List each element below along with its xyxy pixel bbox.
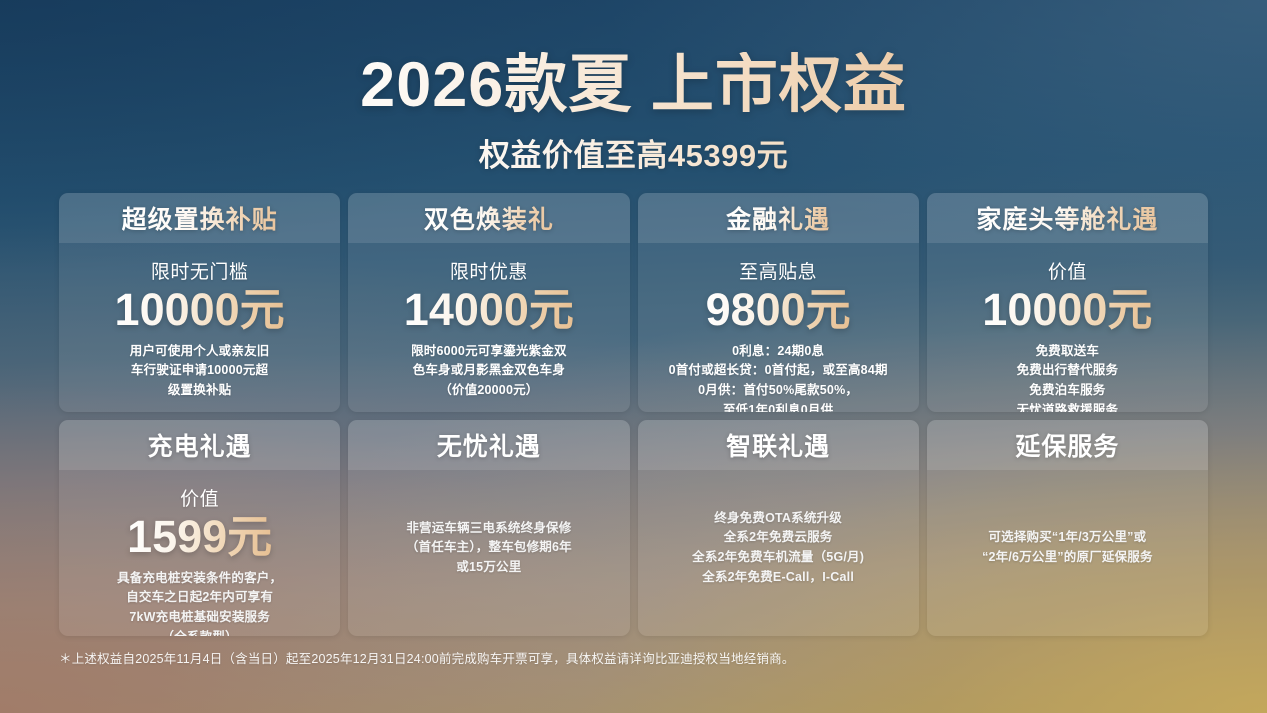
card-header: 双色焕装礼 bbox=[348, 193, 629, 243]
card-label: 价值 bbox=[1048, 257, 1087, 284]
benefit-card-grid-row1: 超级置换补贴 限时无门槛 10000元 用户可使用个人或亲友旧 车行驶证申请10… bbox=[59, 193, 1208, 412]
card-description: 用户可使用个人或亲友旧 车行驶证申请10000元超 级置换补贴 bbox=[130, 342, 270, 401]
benefit-card-grid-row2: 充电礼遇 价值 1599元 具备充电桩安装条件的客户， 自交车之日起2年内可享有… bbox=[59, 420, 1208, 636]
card-body: 终身免费OTA系统升级 全系2年免费云服务 全系2年免费车机流量（5G/月) 全… bbox=[638, 470, 919, 636]
card-amount: 1599元 bbox=[127, 512, 272, 562]
benefit-card[interactable]: 延保服务 可选择购买“1年/3万公里”或 “2年/6万公里”的原厂延保服务 bbox=[927, 420, 1208, 636]
card-title: 智联礼遇 bbox=[726, 427, 830, 463]
card-amount: 10000元 bbox=[982, 285, 1152, 335]
card-title: 双色焕装礼 bbox=[424, 200, 554, 236]
card-header: 超级置换补贴 bbox=[59, 193, 340, 243]
page-title: 2026款夏 上市权益 bbox=[0, 52, 1267, 118]
card-title: 无忧礼遇 bbox=[437, 427, 541, 463]
card-body: 限时优惠 14000元 限时6000元可享鎏光紫金双 色车身或月影黑金双色车身 … bbox=[348, 243, 629, 412]
card-description: 0利息：24期0息 0首付或超长贷：0首付起，或至高84期 0月供：首付50%尾… bbox=[669, 342, 888, 413]
card-header: 充电礼遇 bbox=[59, 420, 340, 470]
card-label: 限时优惠 bbox=[450, 257, 528, 284]
card-label: 至高贴息 bbox=[739, 257, 817, 284]
page-subtitle: 权益价值至高45399元 bbox=[0, 130, 1267, 175]
card-header: 无忧礼遇 bbox=[348, 420, 629, 470]
card-title: 家庭头等舱礼遇 bbox=[976, 200, 1158, 236]
card-description: 非营运车辆三电系统终身保修 （首任车主），整车包修期6年 或15万公里 bbox=[406, 519, 572, 578]
card-body: 价值 1599元 具备充电桩安装条件的客户， 自交车之日起2年内可享有 7kW充… bbox=[59, 470, 340, 636]
promo-poster: 2026款夏 上市权益 权益价值至高45399元 超级置换补贴 限时无门槛 10… bbox=[0, 0, 1267, 713]
card-body: 至高贴息 9800元 0利息：24期0息 0首付或超长贷：0首付起，或至高84期… bbox=[638, 243, 919, 412]
benefit-card[interactable]: 金融礼遇 至高贴息 9800元 0利息：24期0息 0首付或超长贷：0首付起，或… bbox=[638, 193, 919, 412]
poster-header: 2026款夏 上市权益 权益价值至高45399元 bbox=[0, 0, 1267, 175]
card-title: 延保服务 bbox=[1015, 427, 1119, 463]
card-body: 价值 10000元 免费取送车 免费出行替代服务 免费泊车服务 无忧道路救援服务 bbox=[927, 243, 1208, 412]
card-description: 可选择购买“1年/3万公里”或 “2年/6万公里”的原厂延保服务 bbox=[982, 528, 1153, 568]
card-title: 金融礼遇 bbox=[726, 200, 830, 236]
card-description: 免费取送车 免费出行替代服务 免费泊车服务 无忧道路救援服务 bbox=[1017, 342, 1119, 413]
card-description: 终身免费OTA系统升级 全系2年免费云服务 全系2年免费车机流量（5G/月) 全… bbox=[692, 509, 864, 588]
card-amount: 10000元 bbox=[115, 285, 285, 335]
benefit-card[interactable]: 家庭头等舱礼遇 价值 10000元 免费取送车 免费出行替代服务 免费泊车服务 … bbox=[927, 193, 1208, 412]
card-title: 充电礼遇 bbox=[148, 427, 252, 463]
benefit-card[interactable]: 智联礼遇 终身免费OTA系统升级 全系2年免费云服务 全系2年免费车机流量（5G… bbox=[638, 420, 919, 636]
card-header: 金融礼遇 bbox=[638, 193, 919, 243]
benefit-card[interactable]: 双色焕装礼 限时优惠 14000元 限时6000元可享鎏光紫金双 色车身或月影黑… bbox=[348, 193, 629, 412]
card-header: 延保服务 bbox=[927, 420, 1208, 470]
benefit-card[interactable]: 无忧礼遇 非营运车辆三电系统终身保修 （首任车主），整车包修期6年 或15万公里 bbox=[348, 420, 629, 636]
card-body: 可选择购买“1年/3万公里”或 “2年/6万公里”的原厂延保服务 bbox=[927, 470, 1208, 636]
card-label: 限时无门槛 bbox=[151, 257, 249, 284]
card-body: 限时无门槛 10000元 用户可使用个人或亲友旧 车行驶证申请10000元超 级… bbox=[59, 243, 340, 412]
card-label: 价值 bbox=[180, 484, 219, 511]
card-title: 超级置换补贴 bbox=[122, 200, 278, 236]
card-description: 限时6000元可享鎏光紫金双 色车身或月影黑金双色车身 （价值20000元） bbox=[411, 342, 567, 401]
card-description: 具备充电桩安装条件的客户， 自交车之日起2年内可享有 7kW充电桩基础安装服务 … bbox=[117, 569, 282, 637]
card-amount: 14000元 bbox=[404, 285, 574, 335]
benefit-card[interactable]: 超级置换补贴 限时无门槛 10000元 用户可使用个人或亲友旧 车行驶证申请10… bbox=[59, 193, 340, 412]
card-body: 非营运车辆三电系统终身保修 （首任车主），整车包修期6年 或15万公里 bbox=[348, 470, 629, 636]
card-header: 智联礼遇 bbox=[638, 420, 919, 470]
card-header: 家庭头等舱礼遇 bbox=[927, 193, 1208, 243]
benefit-card[interactable]: 充电礼遇 价值 1599元 具备充电桩安装条件的客户， 自交车之日起2年内可享有… bbox=[59, 420, 340, 636]
footnote-text: ＊上述权益自2025年11月4日（含当日）起至2025年12月31日24:00前… bbox=[59, 648, 1208, 667]
card-amount: 9800元 bbox=[706, 285, 851, 335]
